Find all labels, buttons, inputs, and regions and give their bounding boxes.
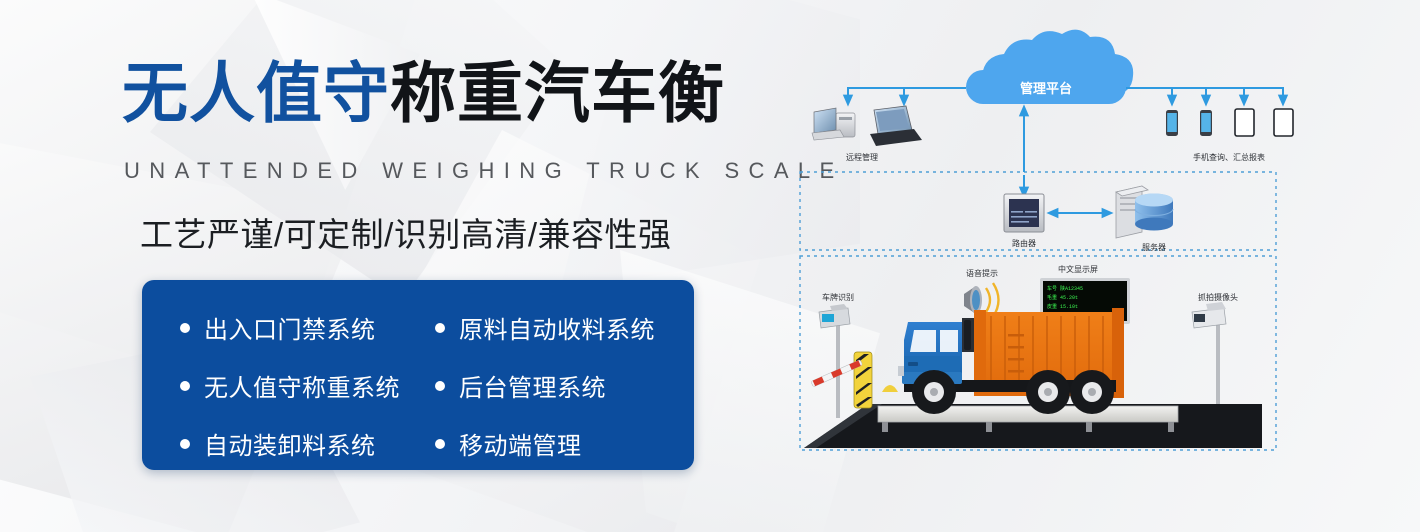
smartphone-icon: [1166, 110, 1178, 136]
bullet-icon: [180, 439, 190, 449]
traffic-cone-icon: [882, 385, 898, 392]
link-cloud-to-phone-1: [1126, 88, 1172, 101]
bullet-icon: [180, 323, 190, 333]
barrier-gate: [811, 352, 872, 408]
capture-camera-icon: [1192, 302, 1226, 418]
system-architecture-diagram: 管理平台 远程管理: [786, 0, 1420, 532]
license-plate-camera-icon: [819, 304, 850, 418]
page-title: 无人值守 称重汽车衡: [122, 60, 725, 126]
desktop-computer-icon: [812, 108, 855, 140]
feature-label: 原料自动收料系统: [459, 310, 655, 345]
server-label: 服务器: [1142, 242, 1166, 252]
led-row: 车号 陕A12345: [1047, 285, 1083, 292]
feature-item-entrance-access[interactable]: 出入口门禁系统: [180, 310, 435, 345]
feature-item-backend-management[interactable]: 后台管理系统: [435, 368, 694, 403]
title-highlight: 无人值守: [122, 60, 390, 126]
laptop-icon: [870, 106, 922, 146]
tablet-icon: [1235, 109, 1254, 136]
smartphone-icon: [1200, 110, 1212, 136]
headline-column: 无人值守 称重汽车衡 UNATTENDED WEIGHING TRUCK SCA…: [0, 0, 760, 532]
feature-item-material-intake[interactable]: 原料自动收料系统: [435, 310, 694, 345]
feature-label: 移动端管理: [459, 426, 582, 461]
feature-item-mobile-management[interactable]: 移动端管理: [435, 426, 694, 461]
subtitle-english: UNATTENDED WEIGHING TRUCK SCALE: [124, 158, 844, 184]
router-label: 路由器: [1012, 238, 1036, 248]
feature-item-unattended-weighing[interactable]: 无人值守称重系统: [180, 368, 435, 403]
feature-label: 后台管理系统: [459, 368, 606, 403]
capture-camera-label: 抓拍摄像头: [1198, 292, 1238, 302]
title-rest: 称重汽车衡: [390, 60, 725, 126]
server-icon: [1116, 186, 1173, 238]
remote-management-label: 远程管理: [846, 152, 878, 162]
voice-prompt-label: 语音提示: [966, 268, 998, 278]
feature-label: 出入口门禁系统: [204, 310, 376, 345]
link-cloud-to-desktop: [848, 88, 966, 101]
link-cloud-to-phone-2: [1126, 88, 1206, 101]
feature-panel: 出入口门禁系统 原料自动收料系统 无人值守称重系统 后台管理系统 自动装卸料系统: [142, 280, 694, 470]
promo-banner: 无人值守 称重汽车衡 UNATTENDED WEIGHING TRUCK SCA…: [0, 0, 1420, 532]
mobile-query-label: 手机查询、汇总报表: [1193, 152, 1265, 162]
tagline: 工艺严谨/可定制/识别高清/兼容性强: [140, 208, 672, 256]
feature-item-auto-loading[interactable]: 自动装卸料系统: [180, 426, 435, 461]
feature-list: 出入口门禁系统 原料自动收料系统 无人值守称重系统 后台管理系统 自动装卸料系统: [142, 298, 694, 472]
feature-label: 自动装卸料系统: [204, 426, 376, 461]
bullet-icon: [435, 381, 445, 391]
link-cloud-to-laptop: [904, 88, 936, 101]
led-row: 毛重 45.20t: [1047, 294, 1078, 301]
cloud-label: 管理平台: [1020, 81, 1072, 96]
cloud-management-platform[interactable]: 管理平台: [966, 30, 1133, 104]
feature-label: 无人值守称重系统: [204, 368, 400, 403]
plate-recognition-label: 车牌识别: [822, 292, 854, 302]
bullet-icon: [435, 439, 445, 449]
bullet-icon: [435, 323, 445, 333]
display-screen-label: 中文显示屏: [1058, 264, 1098, 274]
led-row: 皮重 15.10t: [1047, 303, 1078, 310]
dump-truck: [898, 308, 1124, 414]
link-cloud-to-tablet-2: [1126, 88, 1283, 101]
tablet-icon: [1274, 109, 1293, 136]
link-cloud-to-tablet-1: [1126, 88, 1244, 101]
router-icon: [1004, 194, 1044, 232]
bullet-icon: [180, 381, 190, 391]
